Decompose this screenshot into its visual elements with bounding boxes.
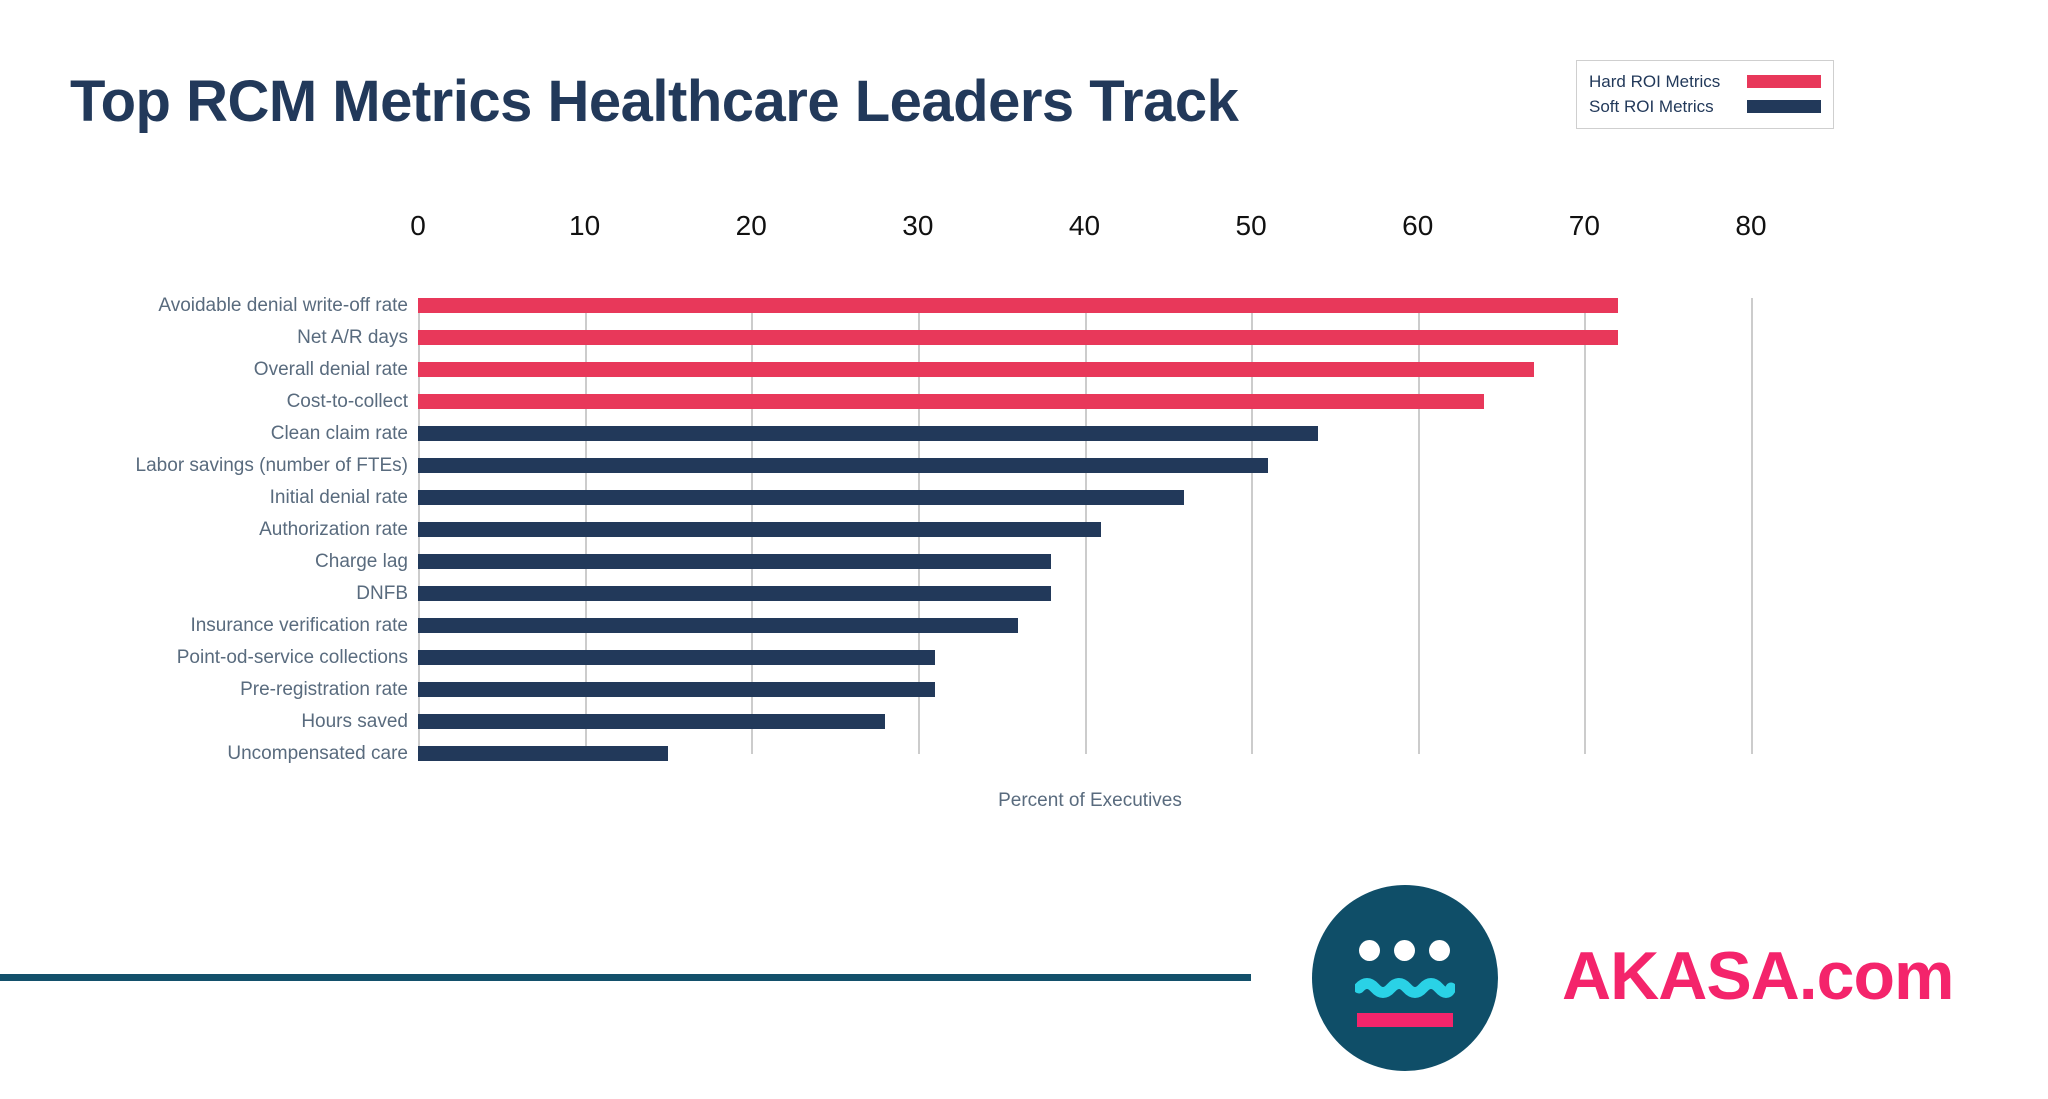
bar-row[interactable] xyxy=(418,298,1751,313)
bar-soft-roi[interactable] xyxy=(418,522,1101,537)
x-tick-label: 60 xyxy=(1402,210,1433,242)
akasa-logo-mark xyxy=(1312,885,1498,1071)
category-label: Initial denial rate xyxy=(0,490,408,505)
bar-soft-roi[interactable] xyxy=(418,458,1268,473)
x-tick-label: 40 xyxy=(1069,210,1100,242)
bar-row[interactable] xyxy=(418,394,1751,409)
bar-row[interactable] xyxy=(418,714,1751,729)
category-label: DNFB xyxy=(0,586,408,601)
bar-soft-roi[interactable] xyxy=(418,650,935,665)
chart-legend: Hard ROI Metrics Soft ROI Metrics xyxy=(1576,60,1834,129)
logo-dot-left-icon xyxy=(1359,940,1380,961)
footer-divider xyxy=(0,974,1251,981)
x-tick-label: 20 xyxy=(736,210,767,242)
bar-row[interactable] xyxy=(418,618,1751,633)
bar-soft-roi[interactable] xyxy=(418,682,935,697)
bar-soft-roi[interactable] xyxy=(418,490,1184,505)
x-tick-label: 80 xyxy=(1735,210,1766,242)
bar-row[interactable] xyxy=(418,330,1751,345)
legend-label-soft-roi: Soft ROI Metrics xyxy=(1589,97,1714,117)
bar-soft-roi[interactable] xyxy=(418,554,1051,569)
gridline xyxy=(1751,298,1753,754)
akasa-wordmark: AKASA.com xyxy=(1562,937,1954,1015)
category-label: Point-od-service collections xyxy=(0,650,408,665)
bar-soft-roi[interactable] xyxy=(418,714,885,729)
page-title: Top RCM Metrics Healthcare Leaders Track xyxy=(70,68,1238,135)
legend-swatch-hard-roi xyxy=(1747,75,1821,88)
bar-chart-plot-area: 01020304050607080 Avoidable denial write… xyxy=(418,298,1751,754)
legend-swatch-soft-roi xyxy=(1747,100,1821,113)
bar-row[interactable] xyxy=(418,362,1751,377)
bar-soft-roi[interactable] xyxy=(418,746,668,761)
bar-hard-roi[interactable] xyxy=(418,394,1484,409)
bar-row[interactable] xyxy=(418,650,1751,665)
logo-dot-center-icon xyxy=(1394,940,1415,961)
y-axis-category-labels: Avoidable denial write-off rateNet A/R d… xyxy=(0,298,408,754)
category-label: Cost-to-collect xyxy=(0,394,408,409)
bar-row[interactable] xyxy=(418,458,1751,473)
x-tick-label: 70 xyxy=(1569,210,1600,242)
bar-soft-roi[interactable] xyxy=(418,426,1318,441)
logo-bar-icon xyxy=(1357,1013,1453,1027)
category-label: Insurance verification rate xyxy=(0,618,408,633)
x-tick-label: 0 xyxy=(410,210,426,242)
category-label: Hours saved xyxy=(0,714,408,729)
logo-dot-right-icon xyxy=(1429,940,1450,961)
legend-label-hard-roi: Hard ROI Metrics xyxy=(1589,72,1720,92)
bar-hard-roi[interactable] xyxy=(418,298,1618,313)
category-label: Net A/R days xyxy=(0,330,408,345)
legend-item-hard-roi: Hard ROI Metrics xyxy=(1589,69,1821,94)
bar-row[interactable] xyxy=(418,554,1751,569)
x-axis-title: Percent of Executives xyxy=(998,790,1182,812)
bar-row[interactable] xyxy=(418,490,1751,505)
logo-wave-icon xyxy=(1355,977,1455,999)
bar-hard-roi[interactable] xyxy=(418,330,1618,345)
x-tick-label: 30 xyxy=(902,210,933,242)
bar-row[interactable] xyxy=(418,682,1751,697)
bar-row[interactable] xyxy=(418,522,1751,537)
category-label: Charge lag xyxy=(0,554,408,569)
bar-row[interactable] xyxy=(418,426,1751,441)
category-label: Avoidable denial write-off rate xyxy=(0,298,408,313)
category-label: Clean claim rate xyxy=(0,426,408,441)
category-label: Pre-registration rate xyxy=(0,682,408,697)
legend-item-soft-roi: Soft ROI Metrics xyxy=(1589,94,1821,119)
category-label: Labor savings (number of FTEs) xyxy=(0,458,408,473)
category-label: Overall denial rate xyxy=(0,362,408,377)
bar-soft-roi[interactable] xyxy=(418,618,1018,633)
x-tick-label: 10 xyxy=(569,210,600,242)
category-label: Authorization rate xyxy=(0,522,408,537)
bar-row[interactable] xyxy=(418,746,1751,761)
bar-soft-roi[interactable] xyxy=(418,586,1051,601)
bar-hard-roi[interactable] xyxy=(418,362,1534,377)
category-label: Uncompensated care xyxy=(0,746,408,761)
x-tick-label: 50 xyxy=(1236,210,1267,242)
bar-row[interactable] xyxy=(418,586,1751,601)
